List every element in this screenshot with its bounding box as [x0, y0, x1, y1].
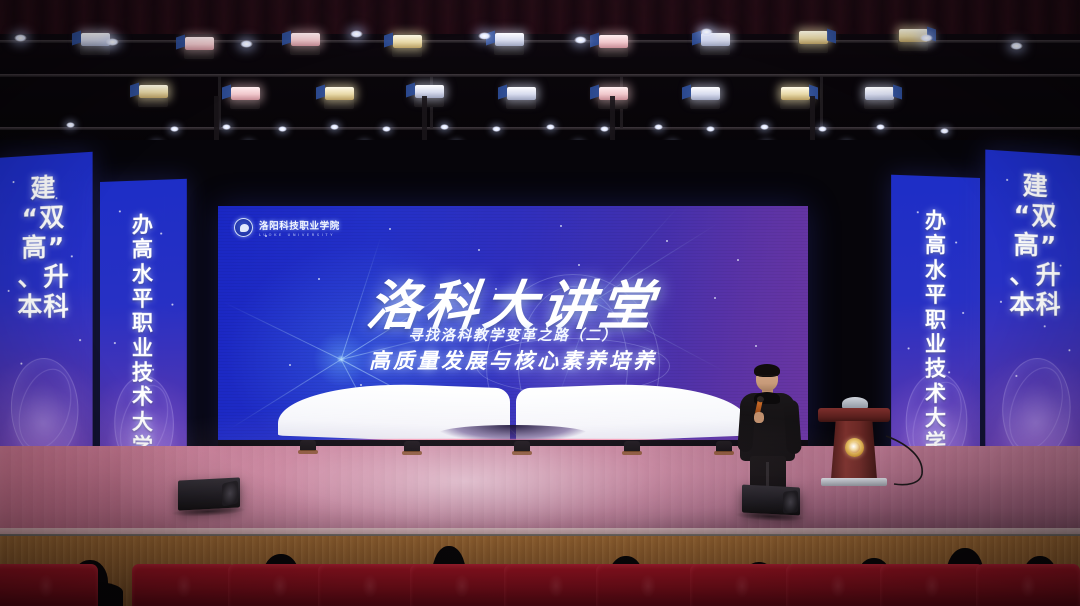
auditorium-seat: [596, 564, 700, 606]
presenter-figure: [736, 366, 802, 494]
banner-line: 办: [925, 209, 947, 234]
point-light: [330, 124, 339, 130]
lectern-top-surface: [818, 408, 890, 422]
banner-line: 水: [132, 262, 154, 287]
point-light: [706, 126, 715, 132]
hanging-pipe: [422, 96, 427, 140]
point-light: [1010, 42, 1023, 50]
point-light: [240, 40, 253, 48]
lectern-podium: [818, 394, 890, 492]
point-light: [66, 122, 75, 128]
stage-light-fixture: [182, 34, 216, 60]
presenter-arm-right: [783, 400, 802, 455]
led-banner-far-left: 建 “双 高” 、升 本科: [0, 152, 93, 465]
point-light: [14, 34, 27, 42]
auditorium-seat: [410, 564, 514, 606]
stage-light-fixture: [412, 82, 446, 108]
banner-line: 技: [925, 357, 947, 382]
stage-light-fixture: [390, 32, 424, 58]
banner-line: 建: [30, 173, 56, 204]
floor-cable: [884, 430, 954, 490]
led-banner-inner-left: 办 高 水 平 职 业 技 术 大 学: [100, 179, 187, 475]
led-banner-far-right: 建 “双 高” 、升 本科: [985, 150, 1080, 465]
banner-text-far-right: 建 “双 高” 、升 本科: [985, 168, 1080, 319]
hanging-pipe: [214, 96, 219, 140]
banner-line: “双: [22, 202, 66, 233]
point-light: [278, 126, 287, 132]
auditorium-seat: [504, 564, 608, 606]
banner-line: 建: [1023, 171, 1049, 202]
point-light: [818, 126, 827, 132]
banner-line: 术: [925, 381, 947, 406]
stage-light-fixture: [492, 30, 526, 56]
banner-line: 高”: [22, 232, 66, 263]
point-light: [876, 124, 885, 130]
banner-line: 高: [925, 233, 947, 258]
university-logo-lockup: 洛阳科技职业学院 LUOKE UNIVERSITY: [234, 218, 340, 237]
point-light: [440, 124, 449, 130]
stage-wedge-monitor-left: [178, 477, 240, 510]
banner-line: 本科: [1009, 290, 1061, 320]
banner-line: 职: [132, 311, 154, 336]
auditorium-seat: [690, 564, 794, 606]
banner-line: 办: [132, 212, 154, 237]
university-name-cn: 洛阳科技职业学院: [259, 218, 340, 232]
banner-text-inner-left: 办 高 水 平 职 业 技 术 大 学: [100, 211, 187, 460]
auditorium-seat: [786, 564, 890, 606]
banner-line: 大: [132, 409, 154, 434]
point-light: [700, 28, 713, 36]
floor-uplight-can: [514, 441, 530, 452]
auditorium-seat: [0, 564, 98, 606]
point-light: [222, 124, 231, 130]
banner-line: 、升: [17, 262, 69, 292]
university-name-en: LUOKE UNIVERSITY: [259, 233, 340, 237]
stage-light-fixture: [778, 84, 812, 110]
auditorium-seat: [318, 564, 422, 606]
point-light: [654, 124, 663, 130]
stage-wedge-monitor-right: [742, 484, 800, 515]
point-light: [350, 30, 363, 38]
led-banner-inner-right: 办 高 水 平 职 业 技 术 大 学: [891, 175, 980, 474]
point-light: [940, 128, 949, 134]
banner-line: 、升: [1009, 260, 1061, 290]
hanging-pipe: [610, 96, 615, 140]
point-light: [920, 34, 933, 42]
stage-light-fixture: [504, 84, 538, 110]
audience-area: [0, 556, 1080, 606]
stage-light-fixture: [796, 28, 830, 54]
point-light: [492, 126, 501, 132]
floor-uplight-can: [716, 441, 732, 452]
banner-line: 术: [132, 385, 154, 410]
point-light: [546, 124, 555, 130]
school-crest-icon: [845, 438, 864, 457]
banner-line: 高: [132, 237, 154, 262]
presenter-hand: [754, 412, 764, 423]
point-light: [382, 126, 391, 132]
stage-light-fixture: [288, 30, 322, 56]
auditorium-seat: [976, 564, 1080, 606]
truss-vertical: [820, 76, 823, 128]
auditorium-seat: [132, 564, 236, 606]
banner-line: 本科: [17, 291, 69, 321]
banner-line: 平: [925, 283, 947, 308]
university-seal-icon: [234, 218, 253, 237]
stage-light-fixture: [136, 82, 170, 108]
auditorium-seat: [228, 564, 332, 606]
truss-row-3: [0, 127, 1080, 130]
point-light: [600, 126, 609, 132]
point-light: [106, 38, 119, 46]
monitor-speaker-grille: [783, 490, 798, 513]
auditorium-stage-photo: 建 “双 高” 、升 本科 办 高 水 平 职 业 技 术 大 学: [0, 0, 1080, 606]
point-light: [574, 36, 587, 44]
truss-row-2: [0, 74, 1080, 77]
banner-line: 平: [132, 286, 154, 311]
banner-line: 业: [132, 336, 154, 361]
stage-light-fixture: [322, 84, 356, 110]
monitor-speaker-grille: [222, 480, 238, 507]
banner-text-inner-right: 办 高 水 平 职 业 技 术 大 学: [891, 208, 980, 457]
stage-light-fixture: [688, 84, 722, 110]
banner-line: 职: [925, 307, 947, 332]
floor-uplight-can: [300, 440, 316, 451]
stage-light-fixture: [596, 32, 630, 58]
floor-uplight-can: [404, 441, 420, 452]
banner-text-far-left: 建 “双 高” 、升 本科: [0, 170, 93, 321]
main-led-screen: 洛阳科技职业学院 LUOKE UNIVERSITY 洛科大讲堂 寻找洛科教学变革…: [218, 206, 808, 446]
event-subtitle-primary: 寻找洛科教学变革之路（二）: [218, 324, 808, 345]
floor-uplight-can: [624, 441, 640, 452]
lectern-base: [821, 478, 887, 486]
point-light: [170, 126, 179, 132]
event-subtitle-secondary: 高质量发展与核心素养培养: [218, 345, 808, 375]
auditorium-seat: [880, 564, 984, 606]
banner-line: 大: [925, 406, 947, 431]
hanging-pipe: [810, 96, 815, 140]
point-light: [478, 32, 491, 40]
banner-line: 高”: [1014, 230, 1058, 261]
ceiling-lighting-rig: [0, 0, 1080, 152]
open-book-graphic: [278, 372, 748, 446]
banner-line: 业: [925, 332, 947, 357]
stage-light-fixture: [228, 84, 262, 110]
banner-line: 水: [925, 258, 947, 283]
eyeglasses-icon: [756, 375, 778, 379]
stage-light-fixture: [862, 84, 896, 110]
point-light: [760, 124, 769, 130]
banner-line: “双: [1014, 200, 1058, 231]
banner-line: 技: [132, 360, 154, 385]
